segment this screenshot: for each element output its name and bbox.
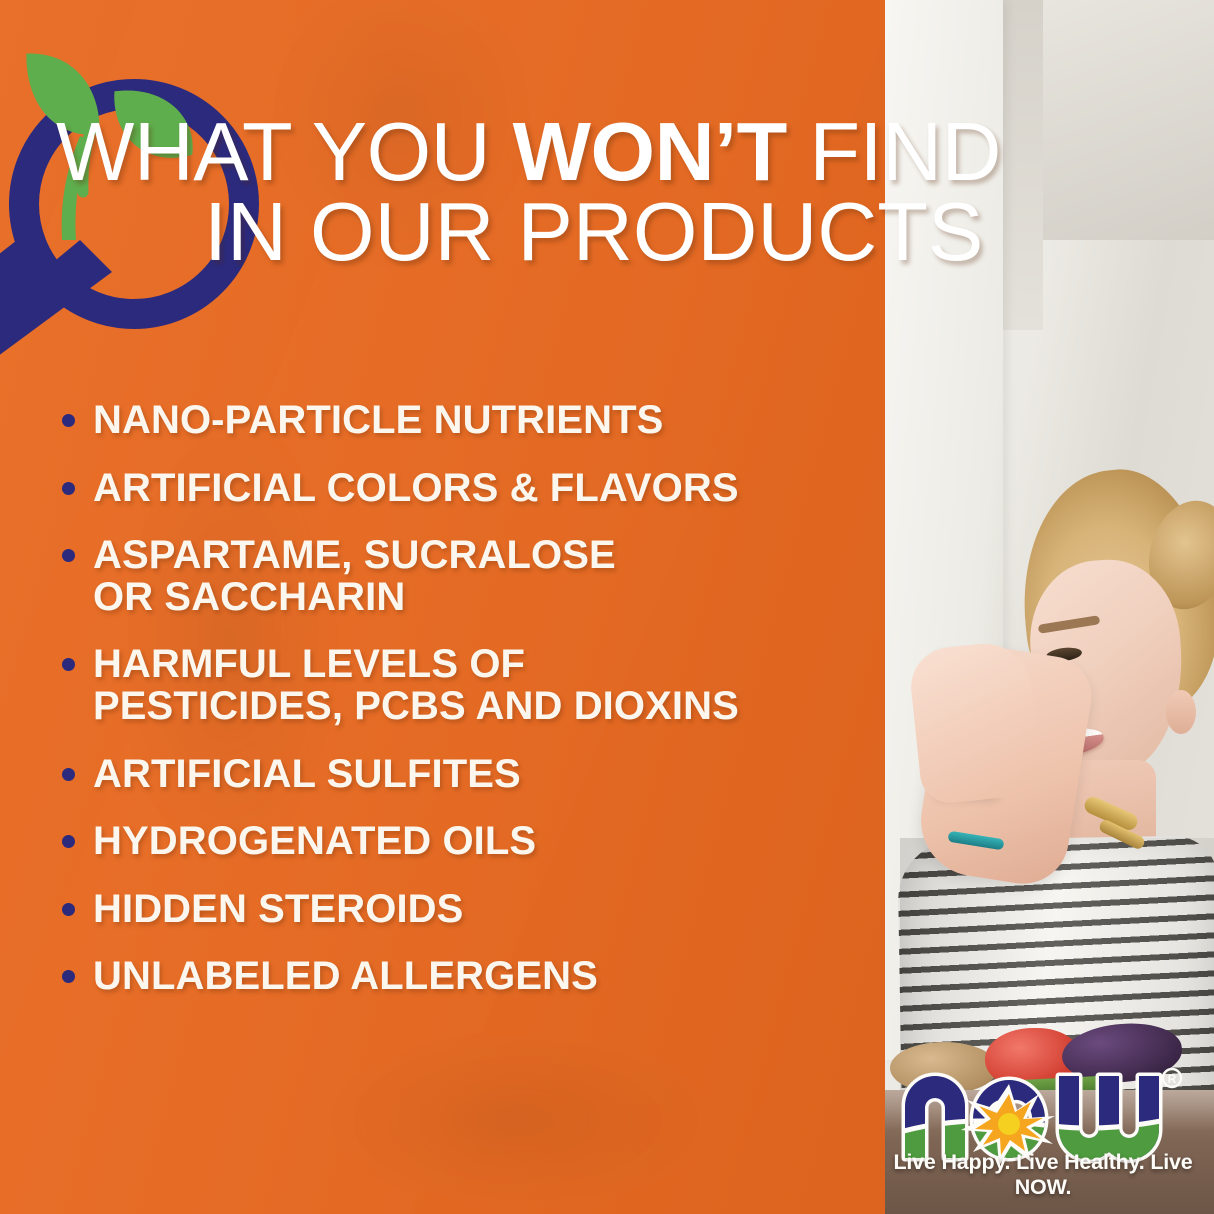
list-item-label: HARMFUL LEVELS OF PESTICIDES, PCBS AND D… [93, 644, 739, 727]
promo-poster: WHAT YOU WON’T FIND IN OUR PRODUCTS NANO… [0, 0, 1214, 1214]
bullet-dot-icon [62, 903, 75, 916]
svg-text:R: R [1168, 1072, 1177, 1086]
headline-line2: IN OUR PRODUCTS [204, 192, 1186, 272]
photo-model-ear [1166, 690, 1196, 734]
bullet-dot-icon [62, 835, 75, 848]
bullet-dot-icon [62, 970, 75, 983]
list-item: HIDDEN STEROIDS [58, 889, 878, 931]
bullet-dot-icon [62, 414, 75, 427]
bullet-dot-icon [62, 482, 75, 495]
list-item-label: ARTIFICIAL SULFITES [93, 754, 521, 796]
photo-model-hand [907, 639, 1043, 806]
list-item: NANO-PARTICLE NUTRIENTS [58, 400, 878, 442]
list-item: ASPARTAME, SUCRALOSE OR SACCHARIN [58, 535, 878, 618]
registered-trademark-icon: R [1163, 1069, 1181, 1087]
list-item: HYDROGENATED OILS [58, 821, 878, 863]
brand-tagline: Live Happy. Live Healthy. Live NOW. [893, 1150, 1193, 1200]
page-title: WHAT YOU WON’T FIND IN OUR PRODUCTS [56, 112, 1186, 271]
list-item: UNLABELED ALLERGENS [58, 956, 878, 998]
bullet-dot-icon [62, 768, 75, 781]
list-item: ARTIFICIAL SULFITES [58, 754, 878, 796]
bullet-dot-icon [62, 658, 75, 671]
excluded-ingredients-list: NANO-PARTICLE NUTRIENTS ARTIFICIAL COLOR… [58, 400, 878, 1024]
list-item-label: UNLABELED ALLERGENS [93, 956, 598, 998]
list-item-label: ASPARTAME, SUCRALOSE OR SACCHARIN [93, 535, 616, 618]
list-item-label: NANO-PARTICLE NUTRIENTS [93, 400, 663, 442]
list-item-label: HIDDEN STEROIDS [93, 889, 463, 931]
list-item: ARTIFICIAL COLORS & FLAVORS [58, 468, 878, 510]
bullet-dot-icon [62, 549, 75, 562]
list-item-label: HYDROGENATED OILS [93, 821, 536, 863]
list-item-label: ARTIFICIAL COLORS & FLAVORS [93, 468, 739, 510]
list-item: HARMFUL LEVELS OF PESTICIDES, PCBS AND D… [58, 644, 878, 727]
